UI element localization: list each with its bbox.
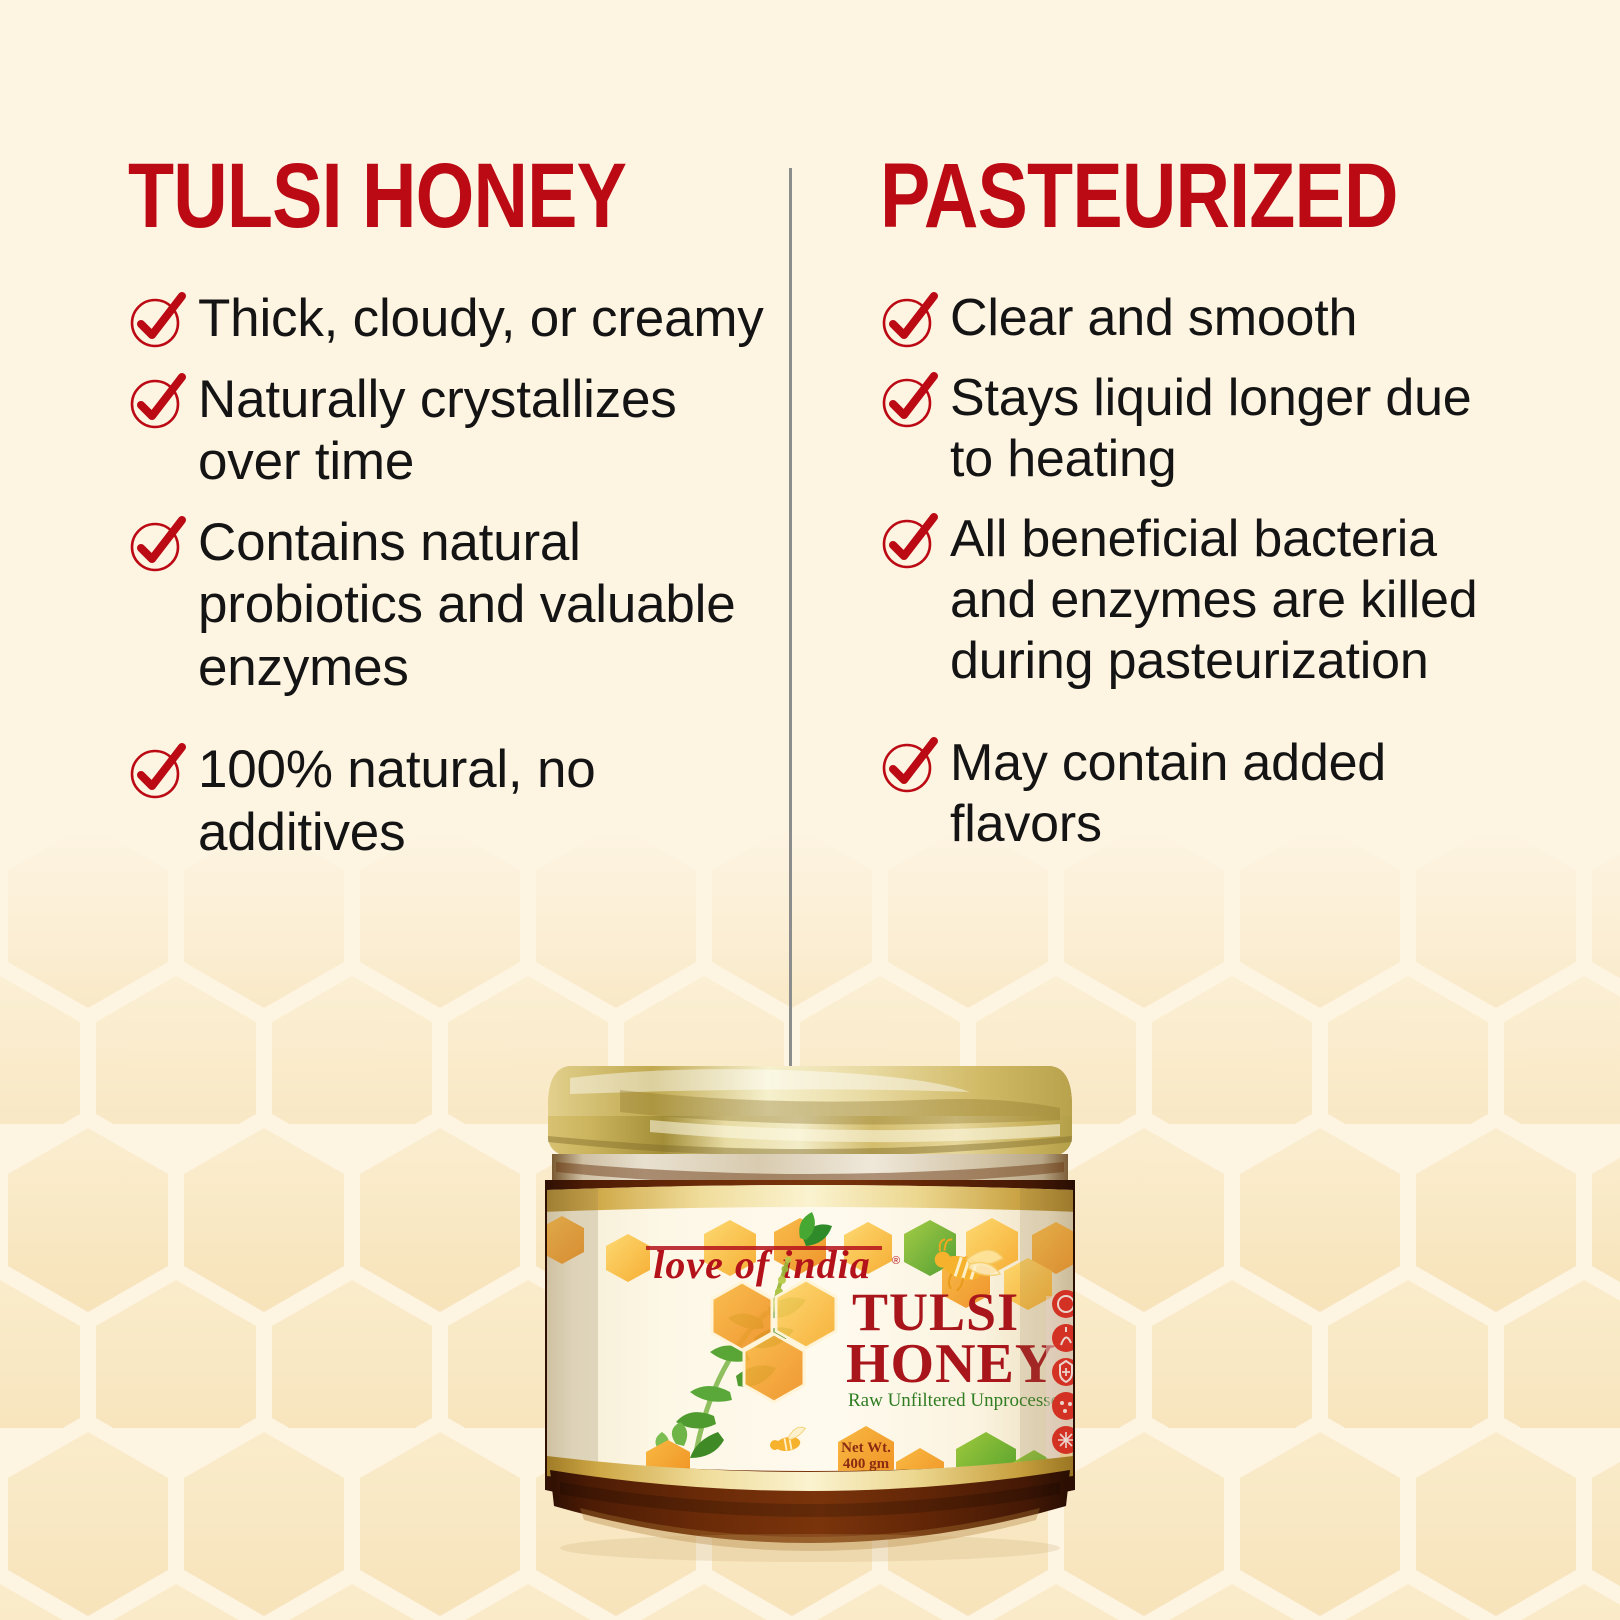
- label-partial-email: ail.com: [506, 1271, 548, 1286]
- net-weight-label: Net Wt.: [841, 1440, 891, 1456]
- jar-label: n ail.com 57 love of india ®: [500, 1180, 1120, 1506]
- product-jar-image: n ail.com 57 love of india ®: [500, 1020, 1120, 1620]
- list-item: Clear and smooth: [880, 288, 1500, 350]
- bullet-list-pasteurized: Clear and smooth Stays liquid longer due…: [880, 288, 1500, 856]
- column-tulsi-honey: TULSI HONEY Thick, cloudy, or creamy: [128, 150, 788, 882]
- list-item: Thick, cloudy, or creamy: [128, 288, 788, 351]
- check-circle-icon: [880, 372, 938, 430]
- column-title-tulsi-honey: TULSI HONEY: [128, 150, 669, 242]
- list-item: Stays liquid longer due to heating: [880, 368, 1500, 491]
- list-item: Contains natural probiotics and valuable…: [128, 512, 788, 700]
- list-item-label: 100% natural, no additives: [198, 739, 788, 864]
- honey-jar-illustration: n ail.com 57 love of india ®: [500, 1020, 1120, 1620]
- svg-text:®: ®: [892, 1255, 900, 1267]
- check-circle-icon: [128, 373, 186, 431]
- list-item: All beneficial bacteria and enzymes are …: [880, 509, 1500, 693]
- check-circle-icon: [128, 516, 186, 574]
- svg-text:I: I: [1086, 1466, 1092, 1485]
- label-partial-phone: 57: [510, 1427, 524, 1442]
- check-circle-icon: [880, 513, 938, 571]
- net-weight-value: 400 gm: [843, 1456, 890, 1472]
- svg-text:I: I: [1086, 1432, 1092, 1451]
- svg-text:R: R: [1086, 1330, 1098, 1349]
- list-item-label: Naturally crystallizes over time: [198, 369, 788, 494]
- check-circle-icon: [880, 292, 938, 350]
- list-item-label: May contain added flavors: [950, 733, 1500, 856]
- list-item: May contain added flavors: [880, 733, 1500, 856]
- bullet-list-tulsi-honey: Thick, cloudy, or creamy Naturally cryst…: [128, 288, 788, 864]
- svg-text:A: A: [1086, 1296, 1099, 1315]
- check-circle-icon: [128, 743, 186, 801]
- svg-text:A: A: [1086, 1398, 1099, 1417]
- svg-text:B: B: [1086, 1364, 1097, 1383]
- list-item: 100% natural, no additives: [128, 739, 788, 864]
- list-item-label: Clear and smooth: [950, 288, 1357, 349]
- column-pasteurized: PASTEURIZED Clear and smooth: [880, 150, 1500, 874]
- column-title-pasteurized: PASTEURIZED: [880, 150, 1388, 242]
- list-item-label: Contains natural probiotics and valuable…: [198, 512, 788, 700]
- list-item-label: Stays liquid longer due to heating: [950, 368, 1500, 491]
- label-partial-text-top: n: [518, 1250, 525, 1265]
- infographic-page: TULSI HONEY Thick, cloudy, or creamy: [0, 0, 1620, 1620]
- list-item-label: Thick, cloudy, or creamy: [198, 288, 764, 351]
- jar-lid: [548, 1066, 1072, 1158]
- list-item: Naturally crystallizes over time: [128, 369, 788, 494]
- check-circle-icon: [880, 737, 938, 795]
- check-circle-icon: [128, 292, 186, 350]
- list-item-label: All beneficial bacteria and enzymes are …: [950, 509, 1500, 693]
- vertical-divider: [789, 168, 792, 1068]
- green-veg-mark: [1074, 1444, 1104, 1474]
